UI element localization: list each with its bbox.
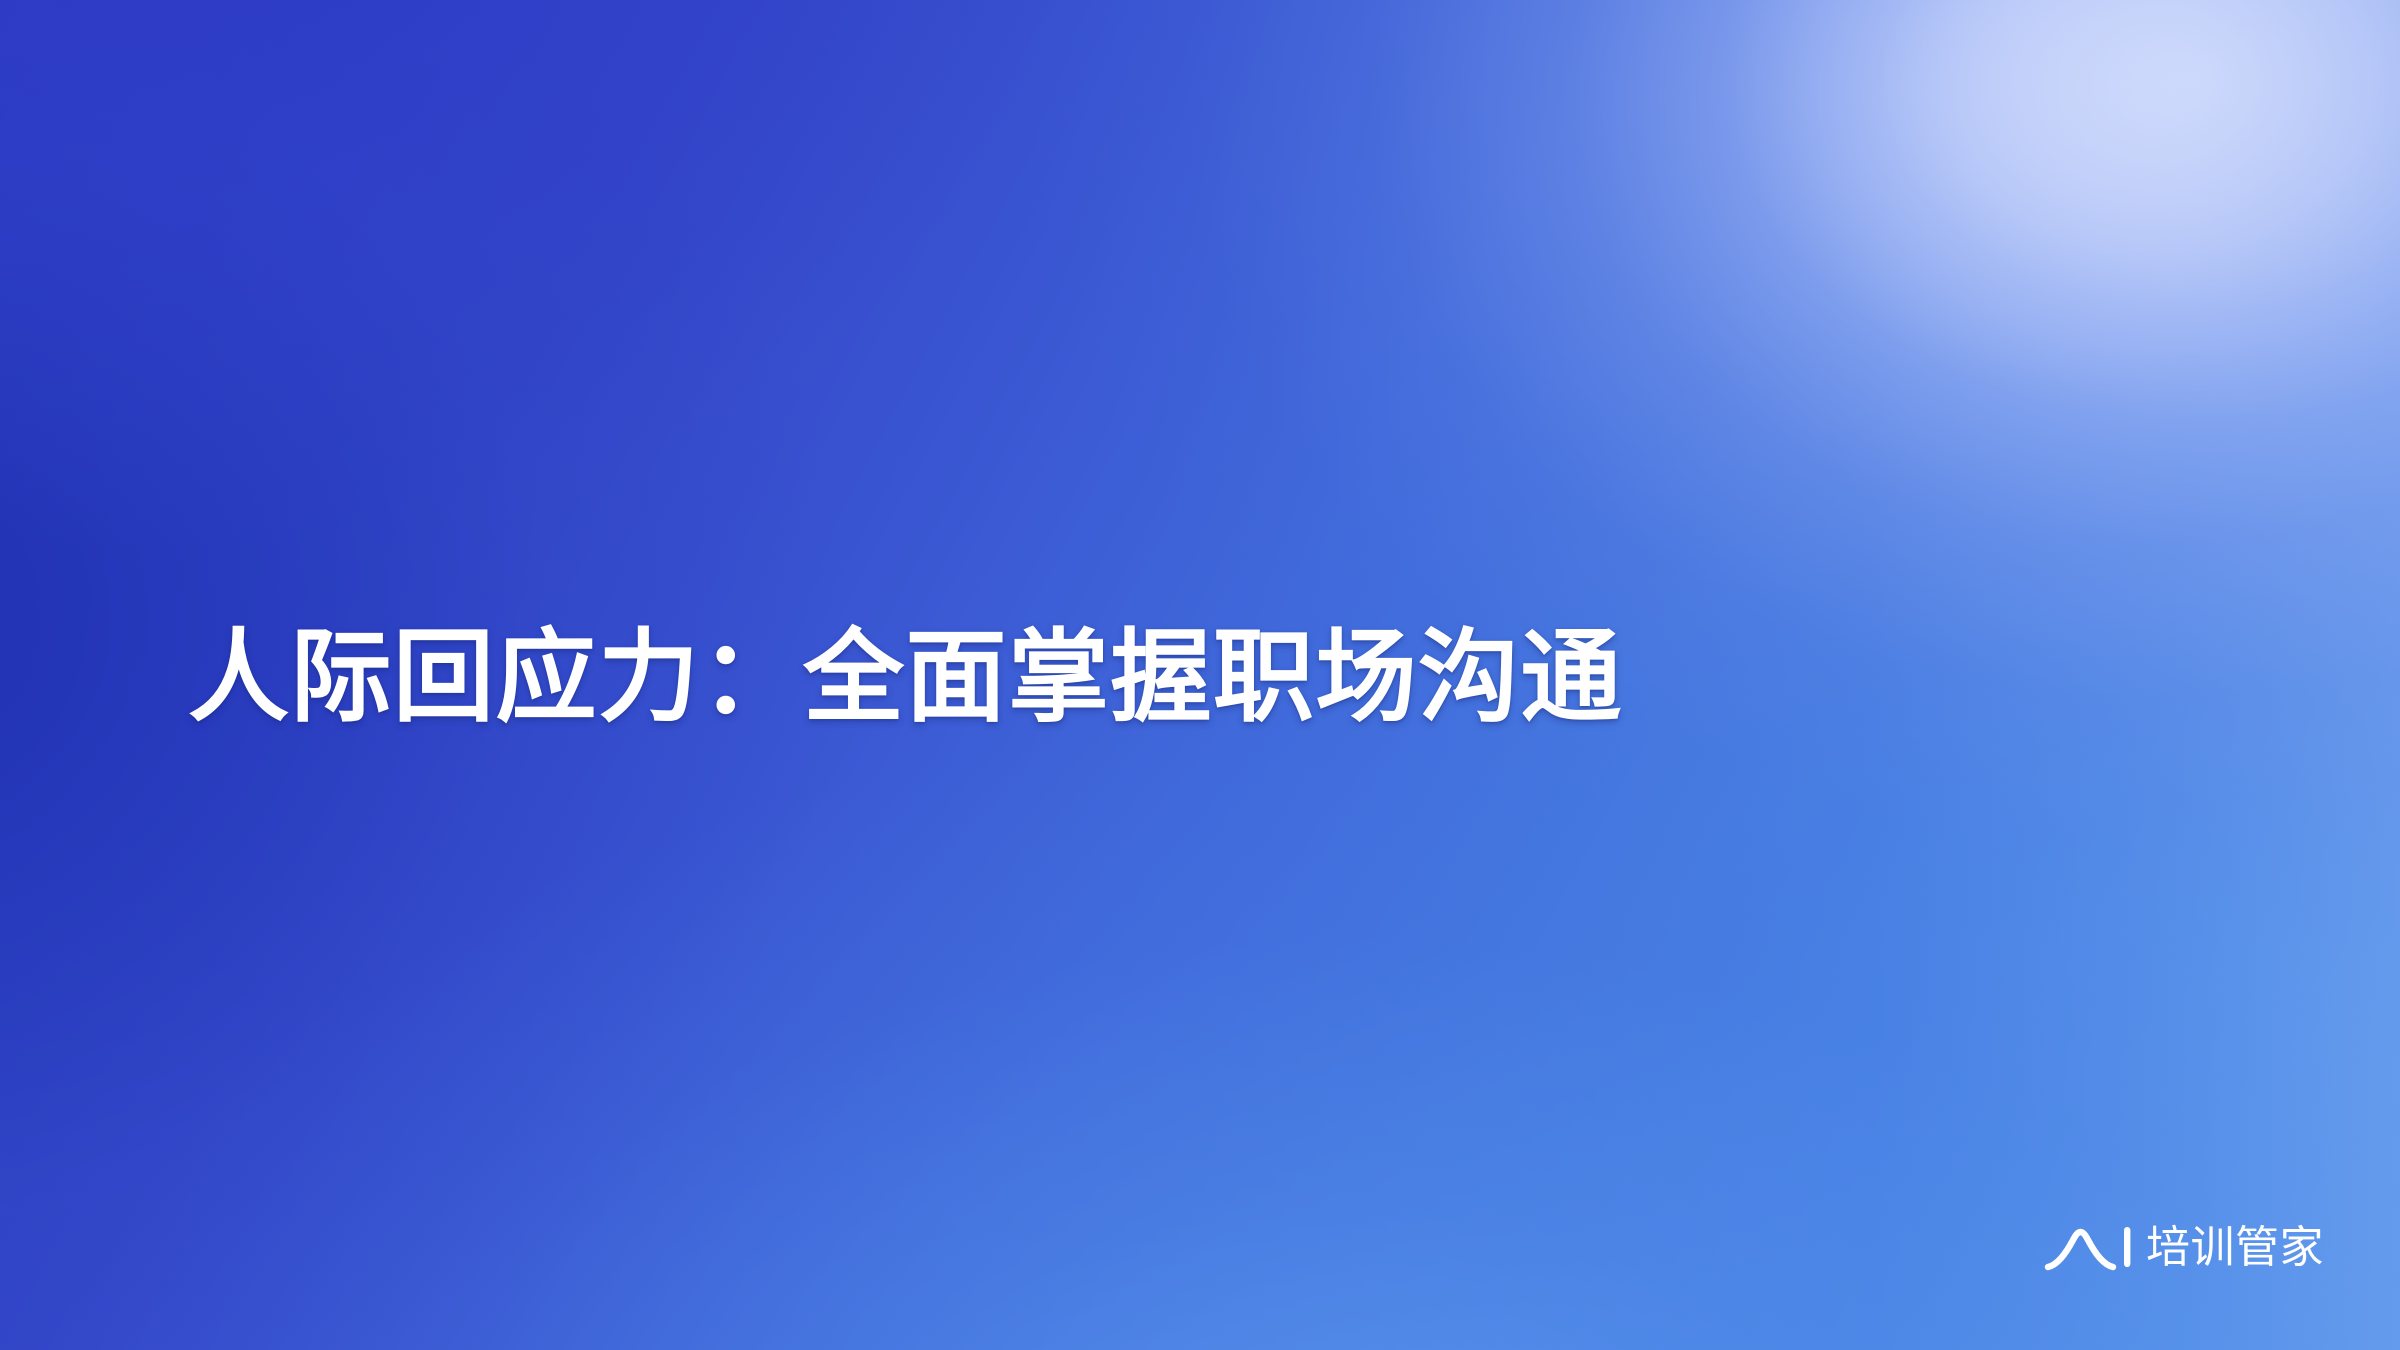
brand-logo: 培训管家 — [2043, 1216, 2324, 1278]
title-block: 人际回应力：全面掌握职场沟通 — [188, 612, 1888, 745]
brand-name: 培训管家 — [2146, 1226, 2324, 1270]
ai-logo-icon — [2043, 1221, 2135, 1273]
slide-canvas: 人际回应力：全面掌握职场沟通 培训管家 — [0, 0, 2400, 1350]
page-title: 人际回应力：全面掌握职场沟通 — [188, 612, 1888, 745]
